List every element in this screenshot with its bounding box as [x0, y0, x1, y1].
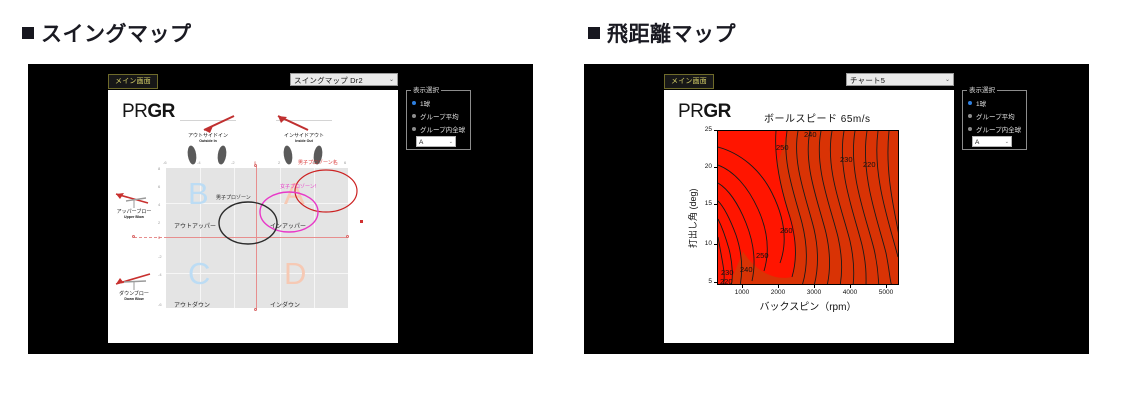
y-tick-10: 10 — [698, 240, 712, 248]
page-root: スイングマップ 飛距離マップ メイン画面 ⌄ スイングマップ Dr2 表示選択 … — [0, 0, 1132, 415]
prgr-logo-distance: PRGR — [678, 101, 731, 123]
axis-endpoint-left — [132, 235, 135, 238]
contour-plot: 260 250 240 230 220 250 240 230 220 — [717, 130, 899, 285]
chevron-down-icon: ⌄ — [449, 138, 453, 147]
y-axis-label: 打出し角 (deg) — [688, 188, 699, 248]
radio-group-all-distance[interactable]: グループ内全球 — [968, 126, 1021, 135]
quadrant-name-out-down: アウトダウン — [174, 302, 210, 310]
radio-group-average-swing-label: グループ平均 — [420, 114, 459, 121]
display-select-panel-swing: 表示選択 1球 グループ平均 グループ内全球 ⌄ A — [406, 90, 471, 150]
annotation-label-female-pro-zone: 女子プロゾーン! — [280, 184, 316, 190]
distance-map-heading-text: 飛距離マップ — [607, 23, 736, 46]
x-tick-label-zero: 0 — [254, 160, 256, 165]
quadrant-name-out-upper: アウトアッパー — [174, 223, 216, 231]
x-tick-label: -6 — [163, 160, 167, 165]
contour-label-250-lower: 250 — [756, 251, 769, 260]
chevron-down-icon: ⌄ — [945, 75, 950, 85]
x-axis-label: バックスピン（rpm） — [717, 302, 899, 314]
label-down-blow: ダウンブロー Down Blow — [110, 291, 158, 302]
chart-selector-swing[interactable]: ⌄ スイングマップ Dr2 — [290, 73, 398, 86]
logo-pr-text: PR — [678, 101, 703, 122]
radio-one-ball-distance-label: 1球 — [976, 101, 986, 108]
y-tick-label: -4 — [158, 272, 162, 277]
radio-group-average-distance-label: グループ平均 — [976, 114, 1015, 121]
square-bullet-icon — [22, 27, 34, 39]
label-outside-in: アウトサイドイン Outside In — [180, 133, 236, 144]
y-tick-label-zero: 0 — [158, 235, 160, 240]
label-inside-out-en: Inside Out — [276, 139, 332, 144]
chart-selector-swing-value: スイングマップ Dr2 — [294, 76, 363, 85]
contour-label-230-upper: 230 — [840, 155, 853, 164]
quadrant-letter-b: B — [188, 178, 209, 209]
page-title-distance-map: 飛距離マップ — [588, 18, 736, 48]
logo-gr-text: GR — [703, 101, 731, 122]
contour-svg — [718, 131, 899, 285]
display-select-panel-distance: 表示選択 1球 グループ平均 グループ内全球 ⌄ A — [962, 90, 1027, 150]
chart-title: ボールスピード 65m/s — [764, 114, 871, 126]
radio-one-ball-distance[interactable]: 1球 — [968, 100, 986, 109]
contour-label-230-lower: 230 — [721, 268, 734, 277]
group-selector-swing-value: A — [419, 139, 423, 146]
y-tick-label: 4 — [158, 202, 160, 207]
display-select-legend-swing: 表示選択 — [411, 86, 441, 95]
label-upper-blow: アッパーブロー Upper Blow — [110, 209, 158, 220]
data-point-marker — [360, 220, 363, 223]
y-tick-label: -2 — [158, 254, 162, 259]
radio-one-ball-swing[interactable]: 1球 — [412, 100, 430, 109]
label-outside-in-en: Outside In — [180, 139, 236, 144]
axis-horizontal-dash-left — [134, 237, 167, 238]
radio-dot-icon — [968, 114, 972, 118]
y-tick-15: 15 — [698, 200, 712, 208]
swing-map-canvas: PRGR -6 — [108, 90, 398, 343]
contour-label-250-upper: 250 — [776, 143, 789, 152]
chart-selector-distance[interactable]: ⌄ チャート5 — [846, 73, 954, 86]
annotation-label-male-pro-zone-right: 男子プロゾーン名 — [298, 160, 338, 166]
distance-map-canvas: PRGR ボールスピード 65m/s — [664, 90, 954, 343]
annotation-ellipse-black — [217, 200, 279, 246]
radio-group-all-distance-label: グループ内全球 — [976, 127, 1021, 134]
contour-label-220-upper: 220 — [863, 160, 876, 169]
x-tick-3000: 3000 — [803, 289, 825, 297]
main-screen-button-distance[interactable]: メイン画面 — [664, 74, 714, 89]
square-bullet-icon — [588, 27, 600, 39]
quadrant-letter-d: D — [284, 258, 306, 289]
contour-label-240-upper: 240 — [804, 130, 817, 139]
axis-endpoint-bottom — [254, 308, 257, 311]
inside-out-arrow-icon — [276, 115, 316, 135]
display-select-legend-distance: 表示選択 — [967, 86, 997, 95]
distance-map-app-window: メイン画面 ⌄ チャート5 表示選択 1球 グループ平均 グループ内全球 ⌄ A… — [584, 64, 1089, 354]
chevron-down-icon: ⌄ — [389, 75, 394, 85]
label-down-blow-en: Down Blow — [110, 297, 158, 302]
annotation-label-male-pro-zone: 男子プロゾーン — [216, 195, 251, 201]
y-tick-label: 8 — [158, 166, 160, 171]
page-title-swing-map: スイングマップ — [22, 18, 192, 48]
y-tick-20: 20 — [698, 163, 712, 171]
swing-plot-area: -6 -4 -2 0 2 4 6 8 6 4 2 0 -2 -4 -6 B A … — [108, 90, 398, 343]
x-tick-2000: 2000 — [767, 289, 789, 297]
quadrant-letter-c: C — [188, 258, 210, 289]
radio-dot-icon — [412, 114, 416, 118]
chevron-down-icon: ⌄ — [1005, 138, 1009, 147]
radio-dot-icon — [968, 127, 972, 131]
group-selector-distance-value: A — [975, 139, 979, 146]
outside-in-arrow-icon — [196, 115, 236, 135]
contour-label-220-lower: 220 — [720, 277, 733, 285]
y-tick-label: -6 — [158, 302, 162, 307]
contour-label-260-lower: 260 — [780, 226, 793, 235]
radio-group-average-swing[interactable]: グループ平均 — [412, 113, 459, 122]
label-upper-blow-en: Upper Blow — [110, 215, 158, 220]
radio-dot-icon — [412, 101, 416, 105]
swing-map-heading-text: スイングマップ — [41, 23, 192, 46]
group-selector-distance[interactable]: ⌄ A — [972, 136, 1012, 147]
quadrant-name-in-down: インダウン — [270, 302, 300, 310]
x-tick-5000: 5000 — [875, 289, 897, 297]
y-tick-label: 6 — [158, 184, 160, 189]
y-tick-25: 25 — [698, 126, 712, 134]
x-tick-1000: 1000 — [731, 289, 753, 297]
radio-dot-icon — [412, 127, 416, 131]
group-selector-swing[interactable]: ⌄ A — [416, 136, 456, 147]
axis-endpoint-right — [346, 235, 349, 238]
footprints-outside-in-icon — [184, 144, 232, 166]
radio-one-ball-swing-label: 1球 — [420, 101, 430, 108]
main-screen-button-swing[interactable]: メイン画面 — [108, 74, 158, 89]
x-tick-4000: 4000 — [839, 289, 861, 297]
x-tick-label: 6 — [344, 160, 346, 165]
upper-blow-club-icon — [112, 188, 156, 210]
radio-group-average-distance[interactable]: グループ平均 — [968, 113, 1015, 122]
chart-selector-distance-value: チャート5 — [850, 76, 885, 85]
label-inside-out: インサイドアウト Inside Out — [276, 133, 332, 144]
contour-label-240-lower: 240 — [740, 265, 753, 274]
radio-dot-icon — [968, 101, 972, 105]
down-blow-club-icon — [112, 270, 156, 292]
swing-map-app-window: メイン画面 ⌄ スイングマップ Dr2 表示選択 1球 グループ平均 グループ内… — [28, 64, 533, 354]
radio-group-all-swing[interactable]: グループ内全球 — [412, 126, 465, 135]
y-tick-5: 5 — [698, 278, 712, 286]
y-tick-label: 2 — [158, 220, 160, 225]
radio-group-all-swing-label: グループ内全球 — [420, 127, 465, 134]
